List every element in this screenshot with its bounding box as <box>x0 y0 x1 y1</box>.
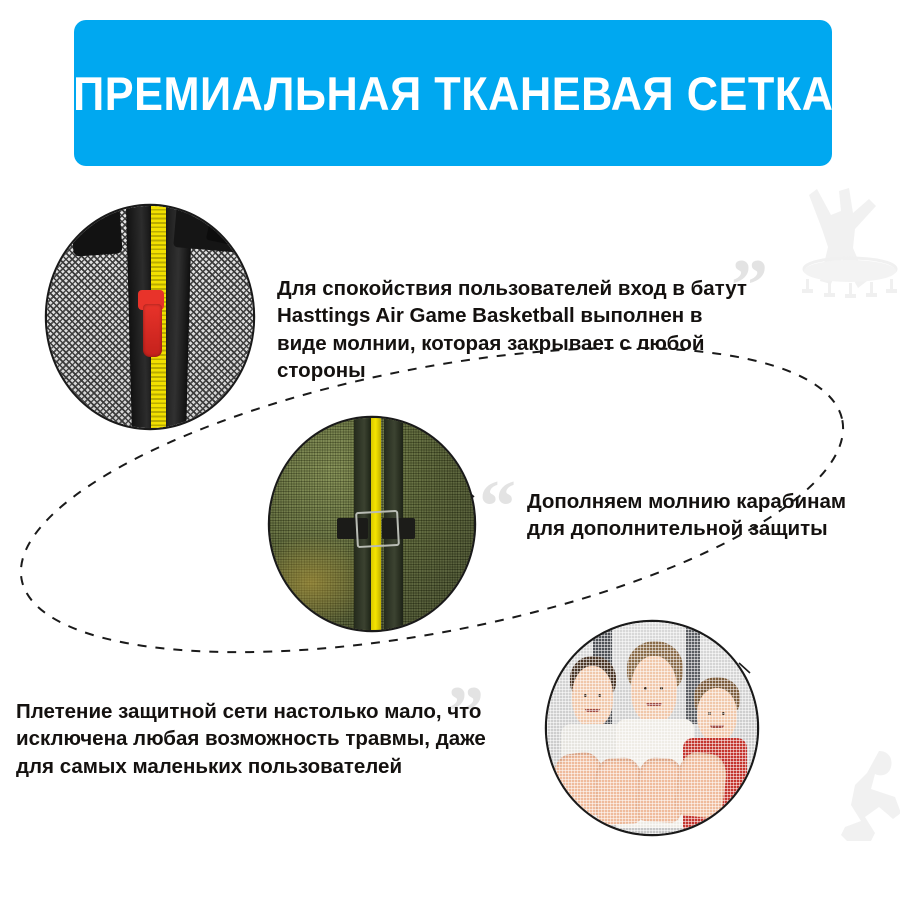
jumping-person-watermark-icon <box>795 185 890 300</box>
photo-carabiner-closeup <box>270 418 474 630</box>
title-banner: ПРЕМИАЛЬНАЯ ТКАНЕВАЯ СЕТКА <box>74 20 832 166</box>
photo-zipper-closeup <box>47 206 253 428</box>
caption-carabiner-line2: для дополнительной защиты <box>527 515 900 542</box>
page-title: ПРЕМИАЛЬНАЯ ТКАНЕВАЯ СЕТКА <box>73 70 834 117</box>
caption-zipper: Для спокойствия пользователей вход в бат… <box>277 275 747 384</box>
caption-weave: Плетение защитной сети настолько мало, ч… <box>16 698 486 780</box>
photo-children-behind-net <box>547 622 757 834</box>
protective-net-overlay <box>547 622 757 834</box>
quote-mark-open-icon: “ <box>479 470 516 544</box>
strap-left <box>70 206 123 256</box>
caption-carabiner-line1: Дополняем молнию карабинам <box>527 488 900 515</box>
trampoline-watermark-icon <box>800 255 900 310</box>
sitting-person-watermark-icon <box>835 745 900 865</box>
infographic-canvas: ПРЕМИАЛЬНАЯ ТКАНЕВАЯ СЕТКА <box>0 0 900 900</box>
red-zipper-pull <box>143 304 163 357</box>
caption-carabiner: Дополняем молнию карабинам для дополните… <box>527 488 900 543</box>
metal-carabiner-icon <box>355 510 400 548</box>
